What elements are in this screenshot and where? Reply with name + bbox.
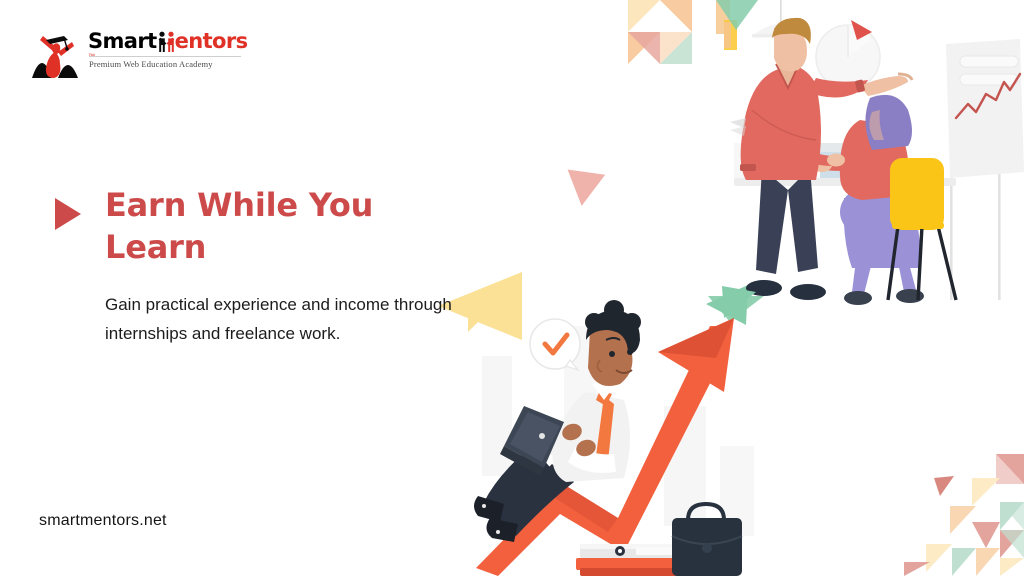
logo-tagline: Premium Web Education Academy <box>89 59 259 69</box>
logo-text-entors: entors <box>175 31 248 52</box>
binder-stack-icon <box>576 544 688 576</box>
play-triangle-icon <box>55 198 81 230</box>
graduate-figure-icon <box>30 28 82 80</box>
website-url[interactable]: smartmentors.net <box>39 512 167 530</box>
body-text: Gain practical experience and income thr… <box>105 290 455 348</box>
check-speech-bubble-icon <box>530 319 580 370</box>
growth-arrow-freelancer-illustration <box>468 296 778 576</box>
salmon-triangle-decor <box>563 170 605 209</box>
geometric-triangle-pattern-bottom-right <box>896 436 1024 576</box>
flipchart-board-icon <box>946 39 1024 300</box>
brand-logo[interactable]: Smart entors™ Premium Web Education Acad… <box>30 26 240 84</box>
logo-divider <box>89 56 241 57</box>
mentor-presentation-illustration <box>712 0 1024 320</box>
logo-text-smart: Smart <box>88 31 157 52</box>
slide-canvas: Smart entors™ Premium Web Education Acad… <box>0 0 1024 576</box>
m-people-icon <box>158 31 175 52</box>
pie-chart-icon <box>816 20 880 89</box>
page-title: Earn While You Learn <box>105 184 435 268</box>
